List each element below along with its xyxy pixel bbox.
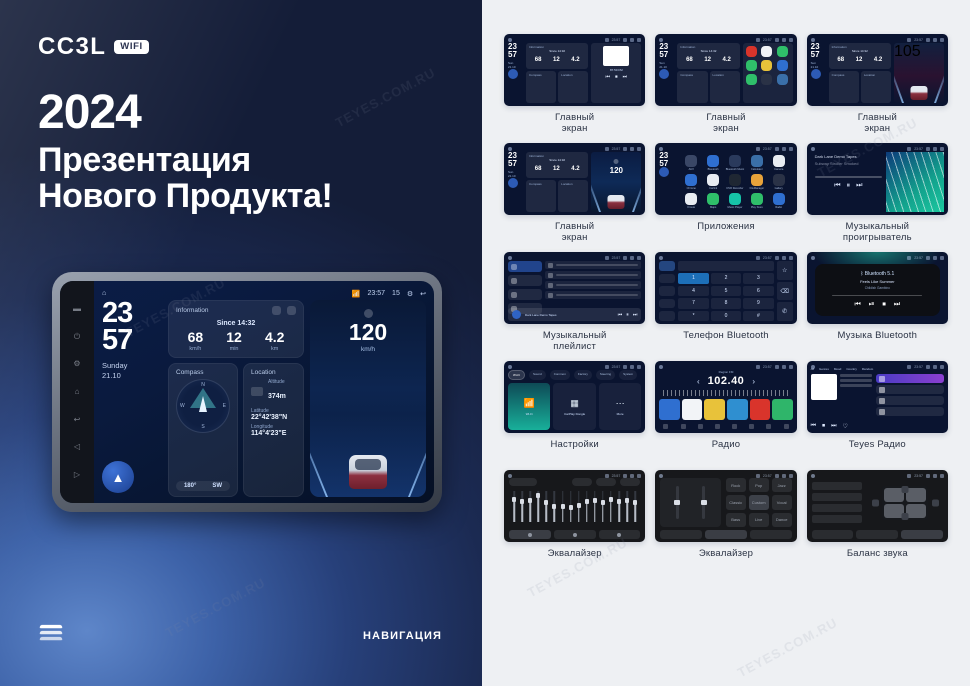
stat-speed-value: 68 <box>188 330 204 344</box>
clock-date: Sun21.10 <box>659 61 674 69</box>
volume-up-icon[interactable]: ▷ <box>72 471 83 479</box>
thumbnail-caption: Настройки <box>550 439 598 463</box>
keypad-key: 1 <box>678 273 708 284</box>
settings-tab: Sound <box>529 370 546 380</box>
keypad-key: 7 <box>678 298 708 309</box>
stat-distance-unit: km <box>265 346 284 352</box>
app-grid: AUXBluetoothBluetooth MusicCalculatorCam… <box>677 152 792 212</box>
thumbnail-teyes-radio[interactable]: 23:57 AllGenresMoodCountryRandom <box>807 361 948 433</box>
preset-pill <box>620 478 640 486</box>
band-fill <box>538 496 540 522</box>
information-actions[interactable] <box>272 306 296 315</box>
track-row <box>545 271 641 279</box>
app-label: Camera <box>774 168 783 171</box>
location-widget: Location <box>558 180 588 212</box>
app-icon <box>751 155 763 167</box>
thumbnail-home-screen-hud[interactable]: 23:57 23 57 Sun21.10 Information Since 1… <box>504 143 645 215</box>
thumb-status-bar: 23:57 <box>508 363 641 370</box>
wifi-badge: WIFI <box>114 40 148 55</box>
category-icon <box>511 292 517 298</box>
back-icon <box>940 38 944 42</box>
app-tile: Bluetooth <box>703 154 723 171</box>
thumbnail-home-screen-hud-red[interactable]: 23:57 23 57 Sun21.10 Information Since 1… <box>807 34 948 106</box>
band-fill <box>562 507 564 522</box>
app-label: Music Player <box>728 206 743 209</box>
status-time: 23:57 <box>914 147 923 151</box>
volume-icon <box>775 147 779 151</box>
stat-speed-unit: km/h <box>188 346 204 352</box>
car-graphic <box>910 86 927 100</box>
app-tile: DVR Recorder <box>725 173 745 190</box>
footer-button <box>705 530 747 539</box>
back-icon <box>637 474 641 478</box>
home-screen: 23 57 Sun21.10 Information Since 14:32 6… <box>659 43 792 103</box>
back-icon <box>789 256 793 260</box>
thumbnail-radio[interactable]: 23:57 Region FM ‹ 102.40 › <box>655 361 796 433</box>
app-icon <box>773 155 785 167</box>
balance-option <box>812 515 862 523</box>
widget-column: Information Since 14:32 68124.2 Compass … <box>829 43 891 103</box>
clock-minutes: 57 <box>659 160 674 168</box>
footer-button <box>554 530 596 539</box>
speed-icon <box>614 159 619 164</box>
widget-column: Information Since 14:32 68124.2 Compass … <box>526 43 588 103</box>
status-time: 23:57 <box>612 474 621 478</box>
dialer-nav-item <box>659 286 675 296</box>
gear-icon[interactable]: ⚙ <box>72 360 83 368</box>
hud-widget: 105 <box>894 43 944 103</box>
app-icon <box>746 60 757 71</box>
settings-tab: Factory <box>574 370 592 380</box>
prev-icon: ⏮ <box>606 74 611 80</box>
bluetooth-badge: ᛒ Bluetooth 5.1 <box>860 271 894 277</box>
status-time: 23:57 <box>763 147 772 151</box>
expand-icon[interactable] <box>287 306 296 315</box>
band-fill <box>618 502 620 522</box>
navigation-icon <box>811 69 821 79</box>
preset-station <box>727 399 748 420</box>
brand-logo: CC3L WIFI <box>38 33 149 61</box>
screenshot-gallery: 23:57 23 57 Sun21.10 Information Since 1… <box>482 0 970 686</box>
volume-icon <box>926 474 930 478</box>
location-widget: Location <box>710 71 740 103</box>
gallery-item-radio[interactable]: 23:57 Region FM ‹ 102.40 › Радио <box>655 361 796 463</box>
gallery-item-music-player[interactable]: 23:57 Dark Lane Demo Tapes Subway Stroll… <box>807 143 948 245</box>
clock-widget[interactable]: 23 57 Sunday 21.10 ▲ <box>102 300 162 497</box>
gallery-item-home-screen-media[interactable]: 23:57 23 57 Sun21.10 Information Since 1… <box>504 34 645 136</box>
compass-north: N <box>201 382 205 388</box>
balance-option <box>812 482 862 490</box>
app-tile: AUX <box>681 154 701 171</box>
status-icons: 23:57 <box>605 474 642 478</box>
thumbnail-caption: Музыка Bluetooth <box>838 330 918 354</box>
stat-value: 4.2 <box>571 57 579 63</box>
preset-pad: Bass <box>726 513 746 527</box>
app-label: Carlink <box>709 187 717 190</box>
brand-logo-text: CC3L <box>38 33 106 61</box>
hero-panel: CC3L WIFI 2024 Презентация Нового Продук… <box>0 0 482 686</box>
preset-station <box>772 399 793 420</box>
equalizer-band <box>559 489 565 524</box>
equalizer-band <box>527 489 533 524</box>
band-knob <box>601 500 605 505</box>
information-widget[interactable]: Information Since 14:32 <box>168 300 304 358</box>
settings-tile-label: More <box>617 412 624 416</box>
band-knob <box>593 498 597 503</box>
thumbnail-caption: Телефон Bluetooth <box>683 330 769 354</box>
clock-minutes: 57 <box>659 51 674 59</box>
lane-line-right <box>934 63 944 103</box>
footer-button <box>599 530 641 539</box>
app-icon <box>685 193 697 205</box>
back-icon[interactable]: ↩ <box>72 416 83 424</box>
station-logo <box>879 387 885 393</box>
app-label: Kroute <box>687 206 695 209</box>
thumbnail-home-screen-apps[interactable]: 23:57 23 57 Sun21.10 Information Since 1… <box>655 34 796 106</box>
gallery-item-home-screen-apps[interactable]: 23:57 23 57 Sun21.10 Information Since 1… <box>655 34 796 136</box>
stat-time-value: 12 <box>226 330 242 344</box>
band-knob <box>520 499 524 504</box>
compass-east: E <box>223 403 226 409</box>
keypad-key: 2 <box>711 273 741 284</box>
app-icon <box>777 60 788 71</box>
track-icon <box>548 273 553 278</box>
clock-minutes: 57 <box>508 51 523 59</box>
home-icon <box>659 256 663 260</box>
stat-value: 12 <box>553 57 560 63</box>
app-label: Chrome <box>687 187 696 190</box>
app-icon <box>729 174 741 186</box>
settings-tile: ▦CarPlay Dongle <box>553 383 595 430</box>
app-label: Gallery <box>775 187 783 190</box>
status-icons: 23:57 <box>907 474 944 478</box>
thumbnail-caption: Teyes Радио <box>849 439 906 463</box>
gallery-item-teyes-radio[interactable]: 23:57 AllGenresMoodCountryRandom <box>807 361 948 463</box>
gallery-item-home-screen-hud[interactable]: 23:57 23 57 Sun21.10 Information Since 1… <box>504 143 645 245</box>
band-fill <box>529 501 531 522</box>
volume-level: 15 <box>392 290 400 297</box>
band-knob <box>561 504 565 509</box>
app-icon <box>761 74 772 85</box>
gallery-item-sound-balance[interactable]: 23:57 Бала <box>807 470 948 572</box>
compass-widget: Compass <box>829 71 859 103</box>
home-widgets: 23 57 Sunday 21.10 ▲ Information <box>102 300 426 497</box>
status-time: 23:57 <box>612 365 621 369</box>
thumbnail-equalizer-bands[interactable]: 23:57 <box>504 470 645 542</box>
gallery-item-equalizer-presets[interactable]: 23:57 RockPopJazzClassicCustomVocalBassL… <box>655 470 796 572</box>
settings-tab: System <box>619 370 637 380</box>
equalizer-band <box>632 489 638 524</box>
teyes-tab: Genres <box>819 367 829 371</box>
location-title: Location <box>251 369 296 376</box>
back-icon <box>789 365 793 369</box>
clock-widget: 23 57 Sun21.10 <box>508 43 523 103</box>
status-icons: 23:57 <box>605 38 642 42</box>
stat-value: 68 <box>535 166 542 172</box>
app-icon <box>729 193 741 205</box>
wifi-icon: ⋯ <box>616 398 625 409</box>
gear-icon <box>933 147 937 151</box>
altitude-block: Altitude 374m <box>268 379 286 403</box>
back-icon <box>637 256 641 260</box>
since-label: Since 14:32 <box>176 320 296 327</box>
status-bar: ⌂ 📶 23:57 15 ⚙ ↩ <box>102 287 426 300</box>
gallery-item-bluetooth-phone[interactable]: 23:57 123456789*0# ☆ ⌫ <box>655 252 796 354</box>
player-controls: ⏮⏯⏹⏭ <box>854 301 900 309</box>
volume-icon <box>623 147 627 151</box>
equalizer-band <box>592 489 598 524</box>
power-icon[interactable]: ⏻ <box>72 333 83 341</box>
gallery-item-applications[interactable]: 23:57 2357 AUXBluetoothBluetooth MusicCa… <box>655 143 796 245</box>
preset-pill <box>596 478 616 486</box>
home-icon <box>508 365 512 369</box>
call-icon: ✆ <box>777 302 793 321</box>
gallery-item-settings[interactable]: 23:57 Wi-FiSoundCommonFactorySteeringSys… <box>504 361 645 463</box>
status-time: 23:57 <box>914 38 923 42</box>
hud-speed-unit: km/h <box>310 346 426 353</box>
status-icons: 23:57 <box>756 38 793 42</box>
band-knob <box>544 500 548 505</box>
layers-icon <box>40 624 62 642</box>
thumbnail-caption: Баланс звука <box>847 548 908 572</box>
thumbnail-home-screen-media[interactable]: 23:57 23 57 Sun21.10 Information Since 1… <box>504 34 645 106</box>
track-row <box>545 261 641 269</box>
thumbnail-bluetooth-phone[interactable]: 23:57 123456789*0# ☆ ⌫ <box>655 252 796 324</box>
watermark: TEYES.COM.RU <box>735 615 840 680</box>
progress-bar <box>832 295 922 297</box>
media-widget: 87.50 FM ⏮⏹⏭ <box>591 43 641 103</box>
preset-station <box>750 399 771 420</box>
car-graphic <box>349 455 387 489</box>
status-time: 23:57 <box>612 38 621 42</box>
information-title: Information <box>176 307 209 314</box>
wifi-icon[interactable]: 📶 <box>352 290 361 298</box>
next-icon: ⏭ <box>831 423 836 430</box>
track-row <box>545 281 641 289</box>
dock-icon <box>784 424 789 429</box>
altitude-value: 374m <box>268 393 286 400</box>
back-icon <box>637 365 641 369</box>
app-label: Bluetooth <box>708 168 719 171</box>
station-meta <box>840 374 872 418</box>
compass-direction: SW <box>212 483 222 489</box>
app-icon <box>761 60 772 71</box>
equalizer-band <box>608 489 614 524</box>
band-fill <box>602 503 604 522</box>
dock-icon <box>698 424 703 429</box>
wifi-icon <box>605 474 609 478</box>
seat <box>906 504 926 518</box>
compass-widget[interactable]: Compass N E S <box>168 363 238 497</box>
thumbnail-caption: Музыкальныйплейлист <box>543 330 607 354</box>
dock-icon <box>663 424 668 429</box>
equalizer-band <box>551 489 557 524</box>
back-icon <box>789 474 793 478</box>
widget-column: Information Since 14:32 68124.2 Compass … <box>526 152 588 212</box>
status-bar-right: 📶 23:57 15 ⚙ ↩ <box>352 290 426 298</box>
app-icon <box>685 174 697 186</box>
thumbnail-music-playlist[interactable]: 23:57 Dark Lane Demo Tapes ⏮ ⏸ <box>504 252 645 324</box>
compass-readout: 180° SW <box>176 481 230 491</box>
stat-value: 12 <box>856 57 863 63</box>
app-label: Radio <box>775 206 782 209</box>
dialer-nav <box>659 261 675 321</box>
watermark: TEYES.COM.RU <box>163 575 268 640</box>
teyes-body <box>811 374 944 418</box>
track-title: Feels Like Summer <box>860 279 894 284</box>
preset-pad: Dance <box>772 513 792 527</box>
player-controls: ⏮⏹⏭♡ <box>811 423 944 430</box>
home-icon[interactable]: ⌂ <box>102 290 106 297</box>
band-knob <box>585 499 589 504</box>
mute-icon[interactable]: ▬ <box>72 305 83 313</box>
compass-widget: Compass <box>526 71 556 103</box>
now-playing-bar: Dark Lane Demo Tapes ⏮ ⏸ ⏭ <box>508 308 641 321</box>
head-unit-screen[interactable]: ▬ ⏻ ⚙ ⌂ ↩ ◁ ▷ ⌂ 📶 23:57 <box>60 281 434 503</box>
thumbnail-settings[interactable]: 23:57 Wi-FiSoundCommonFactorySteeringSys… <box>504 361 645 433</box>
track-title <box>556 274 638 276</box>
dialer-nav-item <box>659 299 675 309</box>
status-icons: 23:57 <box>907 38 944 42</box>
vertical-sliders <box>660 478 720 527</box>
prev-icon: ⏮ <box>618 312 623 318</box>
status-icons: 23:57 <box>907 256 944 260</box>
teyes-tab: Country <box>846 367 857 371</box>
teyes-radio: AllGenresMoodCountryRandom ⏮⏹⏭♡ <box>811 367 944 430</box>
gear-icon <box>782 365 786 369</box>
settings-screen: Wi-FiSoundCommonFactorySteeringSystem 📶W… <box>508 370 641 430</box>
category-icon <box>511 264 517 270</box>
prev-icon: ⏮ <box>811 423 816 430</box>
stat-distance-value: 4.2 <box>265 330 284 344</box>
volume-icon <box>775 474 779 478</box>
playlist-category <box>508 261 542 272</box>
thumbnail-music-player[interactable]: 23:57 Dark Lane Demo Tapes Subway Stroll… <box>807 143 948 215</box>
wifi-icon <box>756 38 760 42</box>
back-icon[interactable]: ↩ <box>420 290 426 298</box>
navigation-icon[interactable]: ▲ <box>102 461 134 493</box>
hud-speed-value: 105 <box>894 43 944 61</box>
dock-icon <box>715 424 720 429</box>
gear-icon[interactable]: ⚙ <box>407 290 413 298</box>
keypad-key: * <box>678 311 708 322</box>
settings-tabs: Wi-FiSoundCommonFactorySteeringSystem <box>508 370 641 380</box>
thumbnail-sound-balance[interactable]: 23:57 <box>807 470 948 542</box>
dock-icon <box>681 424 686 429</box>
station-logo <box>879 376 885 382</box>
bluetooth-music: ᛒ Bluetooth 5.1 Feels Like Summer Childi… <box>815 264 940 316</box>
equalizer-band <box>576 489 582 524</box>
balance-footer <box>812 530 943 539</box>
status-icons: 23:57 <box>756 365 793 369</box>
wifi-icon <box>907 38 911 42</box>
status-icons: 23:57 <box>756 147 793 151</box>
wifi-icon <box>907 256 911 260</box>
trip-stats: 68124.2 <box>680 57 736 63</box>
location-title: Location <box>561 182 585 186</box>
band-fill <box>594 501 596 522</box>
gallery-item-home-screen-hud-red[interactable]: 23:57 23 57 Sun21.10 Information Since 1… <box>807 34 948 136</box>
volume-icon <box>623 38 627 42</box>
volume-icon <box>775 365 779 369</box>
compass-dial <box>532 188 550 206</box>
prev-icon: ⏮ <box>854 301 860 309</box>
clock-date: Sun21.10 <box>508 170 523 178</box>
keypad-key: 0 <box>711 311 741 322</box>
thumbnail-caption: Главныйэкран <box>706 112 745 136</box>
thumbnail-caption: Приложения <box>697 221 755 245</box>
teyes-tab: Mood <box>834 367 842 371</box>
location-widget[interactable]: Location Altitude 374m <box>243 363 304 497</box>
balance-left-button <box>872 499 879 506</box>
home-icon[interactable]: ⌂ <box>72 388 83 396</box>
thumbnail-equalizer-presets[interactable]: 23:57 RockPopJazzClassicCustomVocalBassL… <box>655 470 796 542</box>
gear-icon <box>630 256 634 260</box>
preset-station <box>659 399 680 420</box>
hud-widget[interactable]: 120 km/h <box>310 300 426 497</box>
clock-widget: 23 57 Sun21.10 <box>811 43 826 103</box>
status-time: 23:57 <box>368 290 386 297</box>
app-icon <box>773 174 785 186</box>
bluetooth-dialer: 123456789*0# ☆ ⌫ ✆ <box>659 261 792 321</box>
thumbnail-applications[interactable]: 23:57 2357 AUXBluetoothBluetooth MusicCa… <box>655 143 796 215</box>
volume-down-icon[interactable]: ◁ <box>72 443 83 451</box>
preset-pad: Rock <box>726 478 746 492</box>
status-time: 23:57 <box>612 147 621 151</box>
band-fill <box>634 503 636 522</box>
settings-tile-label: CarPlay Dongle <box>564 412 585 416</box>
gear-icon <box>933 256 937 260</box>
band-fill <box>521 502 523 522</box>
trip-stats: 68124.2 <box>529 57 585 63</box>
app-label: AUX <box>689 168 694 171</box>
thumbnail-bluetooth-music[interactable]: 23:57 ᛒ Bluetooth 5.1 Feels Like Summer … <box>807 252 948 324</box>
settings-tile: ⋯More <box>599 383 641 430</box>
thumbnail-caption: Главныйэкран <box>555 112 594 136</box>
now-playing-title: Dark Lane Demo Tapes <box>525 313 614 317</box>
keypad-key: 9 <box>743 298 773 309</box>
wifi-icon <box>605 256 609 260</box>
preset-pill <box>572 478 592 486</box>
keypad-key: # <box>743 311 773 322</box>
home-icon <box>811 474 815 478</box>
home-icon <box>811 147 815 151</box>
navigation-label: НАВИГАЦИЯ <box>363 630 442 642</box>
stat-value: 68 <box>837 57 844 63</box>
gallery-item-music-playlist[interactable]: 23:57 Dark Lane Demo Tapes ⏮ ⏸ <box>504 252 645 354</box>
compass-heading: 180° <box>184 483 196 489</box>
refresh-icon[interactable] <box>272 306 281 315</box>
gallery-item-bluetooth-music[interactable]: 23:57 ᛒ Bluetooth 5.1 Feels Like Summer … <box>807 252 948 354</box>
station-row <box>876 385 944 394</box>
widget-row-bottom: Compass Location <box>829 71 891 103</box>
hud-widget: 120 <box>591 152 641 212</box>
footer-button <box>509 530 551 539</box>
settings-tab: Wi-Fi <box>508 370 525 380</box>
band-fill <box>513 500 515 522</box>
equalizer-bands <box>509 486 640 530</box>
stop-icon: ⏹ <box>882 301 886 309</box>
band-knob <box>528 498 532 503</box>
thumbnail-caption: Музыкальныйпроигрыватель <box>843 221 912 245</box>
gallery-item-equalizer-bands[interactable]: 23:57 Эквалайзер <box>504 470 645 572</box>
thumbnail-caption: Эквалайзер <box>699 548 753 572</box>
balance-right-button <box>932 499 939 506</box>
footer-button <box>856 530 898 539</box>
hardware-button-rail[interactable]: ▬ ⏻ ⚙ ⌂ ↩ ◁ ▷ <box>60 281 94 503</box>
track-icon <box>548 263 553 268</box>
album-art <box>512 310 521 319</box>
